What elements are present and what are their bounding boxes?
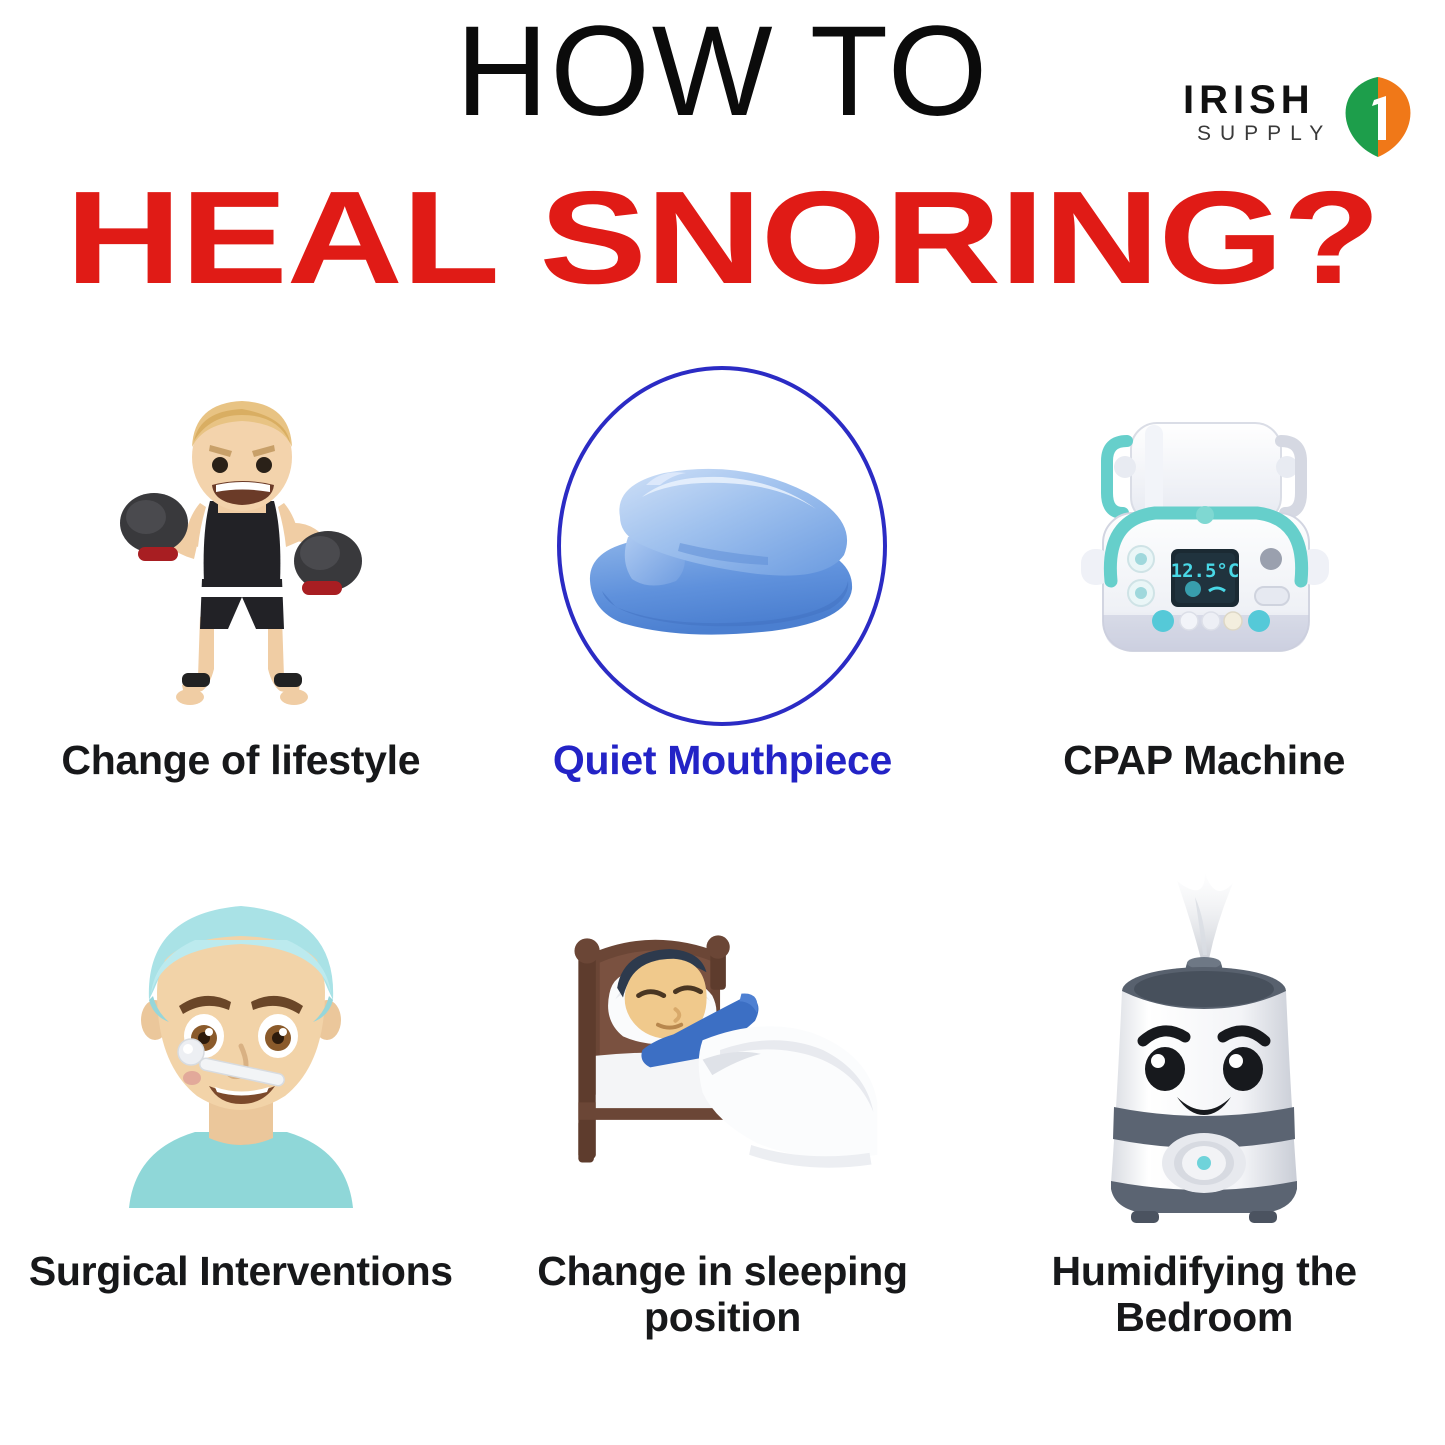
remedy-label-quiet-mouthpiece: Quiet Mouthpiece	[502, 738, 942, 784]
logo-wordmark-irish: IRISH	[1183, 78, 1315, 122]
remedy-label-change-of-lifestyle: Change of lifestyle	[21, 738, 461, 784]
boxer-emoji-icon	[76, 360, 406, 732]
brand-logo: IRISH SUPPLY	[1183, 78, 1415, 170]
humidifier-icon	[1039, 860, 1369, 1235]
remedy-label-change-in-sleeping-position: Change in sleeping position	[502, 1249, 942, 1341]
irish-flag-circle-icon	[1338, 74, 1418, 160]
cpap-machine-icon: 12.5°C	[1039, 360, 1369, 732]
surgeon-emoji-icon	[76, 860, 406, 1235]
title-line-heal-snoring: HEAL SNORING?	[0, 172, 1445, 304]
infographic-poster: HOW TO HEAL SNORING? IRISH SUPPLY	[0, 0, 1445, 1445]
remedies-grid: Change of lifestyle	[0, 360, 1445, 1380]
person-in-bed-emoji-icon	[557, 860, 887, 1235]
mouthpiece-art-wrapper	[557, 360, 887, 732]
remedy-card-humidifying-the-bedroom[interactable]: Humidifying the Bedroom	[963, 860, 1445, 1380]
cpap-display-value: 12.5°C	[1171, 560, 1240, 582]
remedy-card-quiet-mouthpiece[interactable]: Quiet Mouthpiece	[482, 360, 964, 860]
product-circle-frame	[557, 366, 887, 726]
remedy-card-surgical-interventions[interactable]: Surgical Interventions	[0, 860, 482, 1380]
remedy-label-surgical-interventions: Surgical Interventions	[21, 1249, 461, 1295]
logo-wordmark-supply: SUPPLY	[1197, 122, 1332, 146]
remedy-card-change-in-sleeping-position[interactable]: Change in sleeping position	[482, 860, 964, 1380]
remedy-card-cpap-machine[interactable]: 12.5°C	[963, 360, 1445, 860]
remedy-card-change-of-lifestyle[interactable]: Change of lifestyle	[0, 360, 482, 860]
remedy-label-humidifying-the-bedroom: Humidifying the Bedroom	[984, 1249, 1424, 1341]
anti-snoring-mouthpiece-icon	[572, 431, 872, 661]
poster-header: HOW TO HEAL SNORING? IRISH SUPPLY	[0, 0, 1445, 320]
remedy-label-cpap-machine: CPAP Machine	[984, 738, 1424, 784]
